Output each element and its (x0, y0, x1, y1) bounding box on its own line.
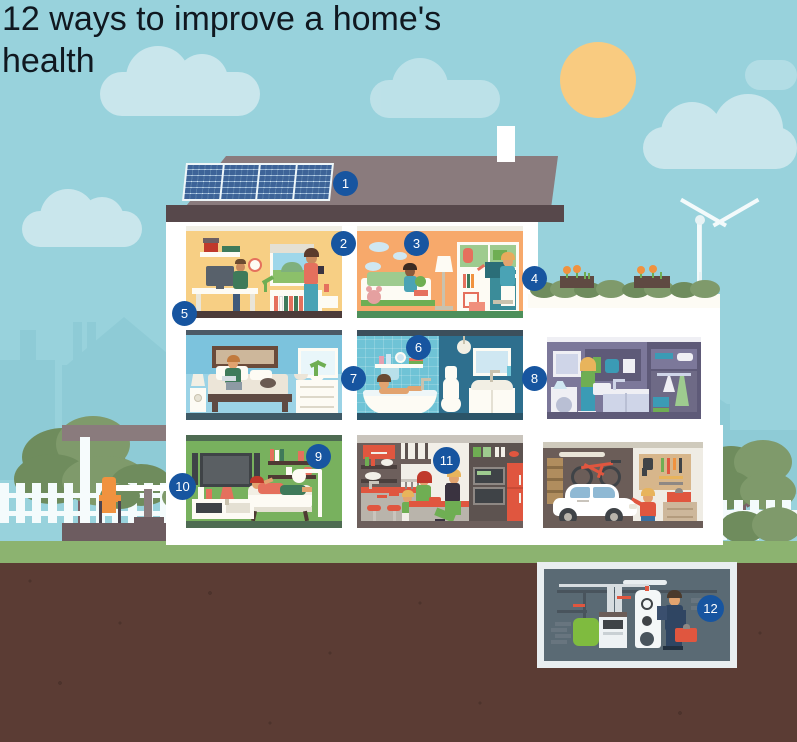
badge-1[interactable]: 1 (333, 171, 358, 196)
chimney (497, 126, 515, 162)
room-home-office (186, 226, 342, 318)
room-kids-bedroom (357, 226, 523, 318)
badge-7[interactable]: 7 (341, 366, 366, 391)
cloud-far-right (745, 60, 797, 90)
cloud-top-right (643, 127, 797, 169)
room-master-bedroom (186, 330, 342, 420)
badge-6[interactable]: 6 (406, 335, 431, 360)
solar-panel (221, 165, 259, 199)
badge-2[interactable]: 2 (331, 231, 356, 256)
green-roof-garden (528, 268, 720, 308)
cloud-top-center (370, 80, 500, 118)
badge-9[interactable]: 9 (306, 444, 331, 469)
shrub-right (720, 505, 797, 545)
badge-5[interactable]: 5 (172, 301, 197, 326)
room-bathroom (357, 330, 523, 420)
badge-8[interactable]: 8 (522, 366, 547, 391)
cloud-mid-left (22, 211, 142, 247)
solar-panel (294, 165, 332, 199)
solar-panel (257, 165, 295, 199)
page-title: 12 ways to improve a home's health (2, 0, 472, 82)
badge-11[interactable]: 11 (433, 447, 460, 474)
badge-4[interactable]: 4 (522, 266, 547, 291)
solar-panel (184, 165, 222, 199)
infographic-canvas: 12 ways to improve a home's health 12345… (0, 0, 797, 742)
solar-panel-array (182, 163, 334, 201)
badge-12[interactable]: 12 (697, 595, 724, 622)
badge-10[interactable]: 10 (169, 473, 196, 500)
sun-icon (560, 42, 636, 118)
badge-3[interactable]: 3 (404, 231, 429, 256)
room-garage (543, 442, 703, 528)
room-laundry (547, 337, 701, 419)
